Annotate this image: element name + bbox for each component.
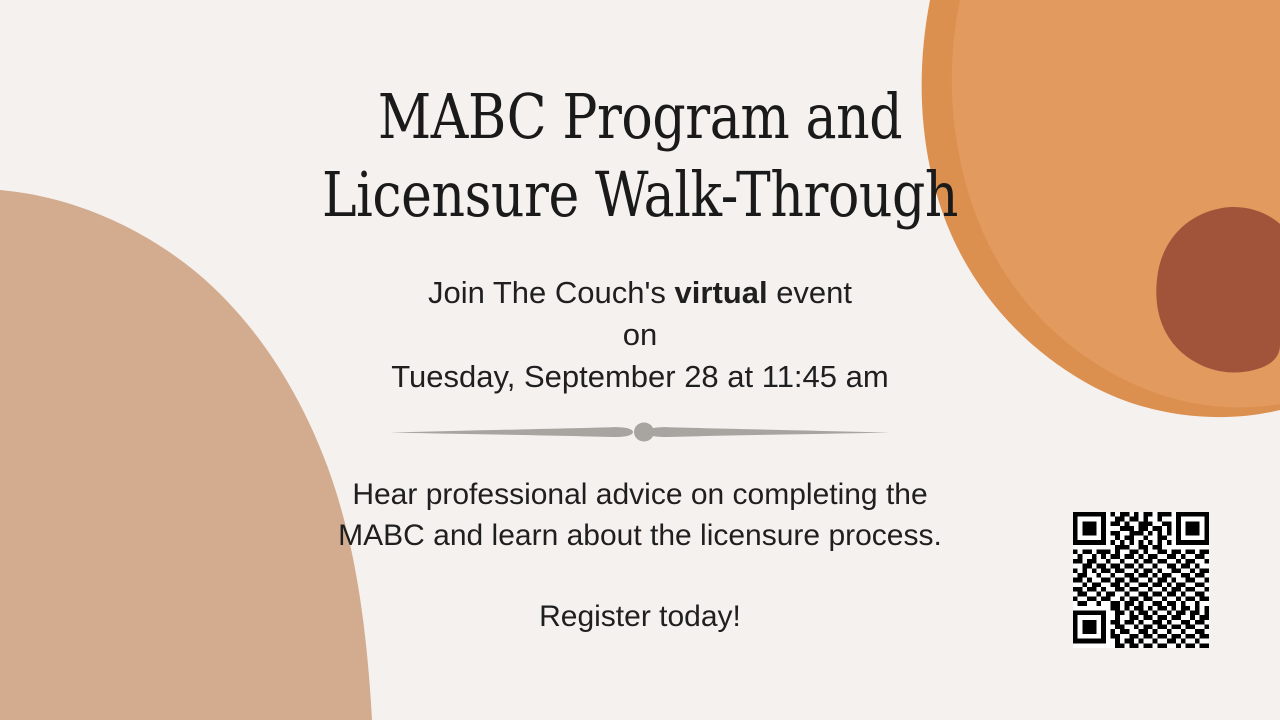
body-line-1: Hear professional advice on completing t… bbox=[0, 474, 1280, 515]
subhead-suffix: event bbox=[768, 275, 852, 310]
divider-right-leaf bbox=[647, 427, 890, 437]
page-title: MABC Program and Licensure Walk-Through bbox=[0, 78, 1280, 234]
poster-canvas: MABC Program and Licensure Walk-Through … bbox=[0, 0, 1280, 720]
title-line-1: MABC Program and bbox=[102, 78, 1177, 156]
divider-ornament bbox=[390, 418, 890, 446]
qr-code-image bbox=[1073, 512, 1209, 648]
subhead-prefix: Join The Couch's bbox=[428, 275, 675, 310]
qr-code[interactable] bbox=[1073, 512, 1209, 648]
event-subheading: Join The Couch's virtual event on Tuesda… bbox=[0, 272, 1280, 398]
title-line-2: Licensure Walk-Through bbox=[102, 156, 1177, 234]
divider-left-leaf bbox=[390, 427, 633, 437]
event-datetime: Tuesday, September 28 at 11:45 am bbox=[0, 356, 1280, 398]
subhead-emphasis: virtual bbox=[675, 275, 768, 310]
subhead-line-2: on bbox=[0, 314, 1280, 356]
poster-content: MABC Program and Licensure Walk-Through … bbox=[0, 0, 1280, 720]
subhead-line-1: Join The Couch's virtual event bbox=[0, 272, 1280, 314]
